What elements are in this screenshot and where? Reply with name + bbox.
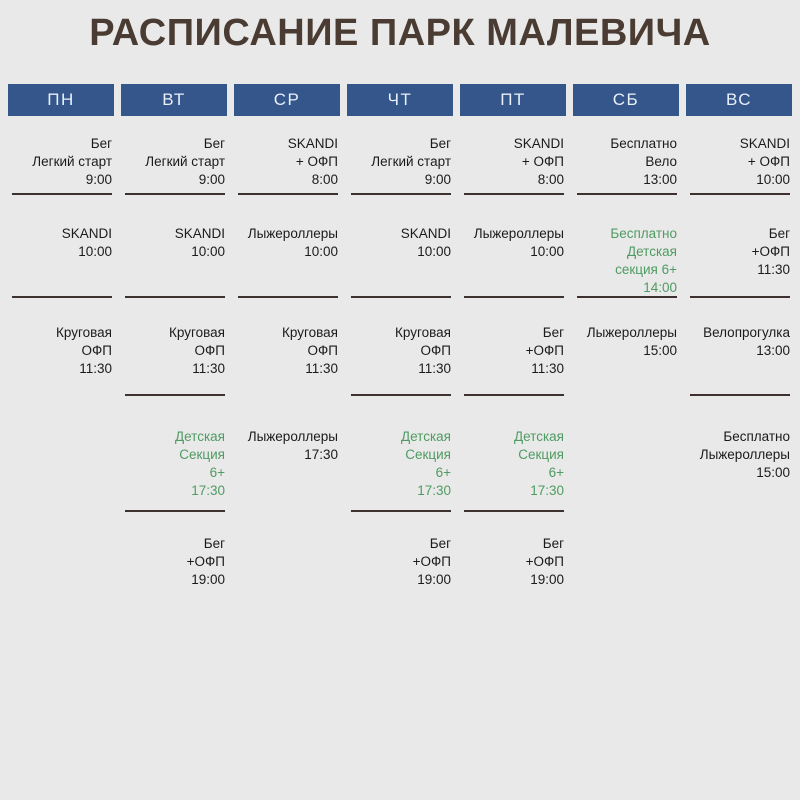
day-tab-mon[interactable]: ПН [8, 84, 114, 116]
session-time: 9:00 [86, 171, 112, 189]
session-time: 10:00 [191, 243, 225, 261]
day-tab-sun[interactable]: ВС [686, 84, 792, 116]
session-name: Бег [430, 135, 451, 153]
schedule-cell[interactable]: БегЛегкий старт9:00 [121, 126, 227, 203]
session-name: + ОФП [522, 153, 564, 171]
session-name: Круговая [282, 324, 338, 342]
session-name: +ОФП [526, 342, 564, 360]
session-name: +ОФП [526, 553, 564, 571]
schedule-cell[interactable]: Велопрогулка13:00 [686, 306, 792, 404]
session-name: Бег [543, 535, 564, 553]
session-name: Круговая [56, 324, 112, 342]
schedule-column-sun: SKANDI+ ОФП10:00Бег+ОФП11:30Велопрогулка… [686, 126, 792, 595]
schedule-cell[interactable]: Бег+ОФП19:00 [121, 520, 227, 595]
session-name: +ОФП [413, 553, 451, 571]
day-tab-label: ПТ [500, 90, 526, 110]
session-name: SKANDI [288, 135, 338, 153]
session-name: 6+ [210, 464, 225, 482]
schedule-cell[interactable]: Лыжероллеры17:30 [234, 404, 340, 520]
day-tab-label: ЧТ [388, 90, 413, 110]
schedule-cell[interactable]: Бег+ОФП19:00 [460, 520, 566, 595]
session-name: Круговая [395, 324, 451, 342]
session-time: 11:30 [305, 360, 338, 378]
session-time: 11:30 [418, 360, 451, 378]
session-name: Бесплатно [610, 225, 677, 243]
session-name: + ОФП [296, 153, 338, 171]
session-name: Велопрогулка [703, 324, 790, 342]
day-tab-thu[interactable]: ЧТ [347, 84, 453, 116]
schedule-cell[interactable]: БесплатноДетскаясекция 6+14:00 [573, 203, 679, 306]
session-time: 15:00 [643, 342, 677, 360]
session-name: Круговая [169, 324, 225, 342]
day-tab-label: СБ [613, 90, 639, 110]
day-tab-wed[interactable]: СР [234, 84, 340, 116]
schedule-cell[interactable]: SKANDI10:00 [347, 203, 453, 306]
session-name: SKANDI [514, 135, 564, 153]
schedule-cell[interactable]: БесплатноВело13:00 [573, 126, 679, 203]
session-name: SKANDI [401, 225, 451, 243]
session-time: 8:00 [312, 171, 338, 189]
day-tab-tue[interactable]: ВТ [121, 84, 227, 116]
schedule-cell[interactable]: КруговаяОФП11:30 [121, 306, 227, 404]
session-name: SKANDI [62, 225, 112, 243]
schedule-cell[interactable]: ДетскаяСекция6+17:30 [347, 404, 453, 520]
day-tab-label: СР [274, 90, 301, 110]
schedule-cell[interactable]: Лыжероллеры15:00 [573, 306, 679, 404]
session-time: 15:00 [756, 464, 790, 482]
schedule-cell[interactable]: Бег+ОФП11:30 [686, 203, 792, 306]
session-time: 17:30 [530, 482, 564, 500]
session-name: Легкий старт [371, 153, 451, 171]
session-time: 9:00 [425, 171, 451, 189]
session-name: Бег [543, 324, 564, 342]
session-name: ОФП [308, 342, 338, 360]
schedule-cell[interactable]: Лыжероллеры10:00 [234, 203, 340, 306]
schedule-column-sat: БесплатноВело13:00БесплатноДетскаясекция… [573, 126, 679, 595]
session-name: 6+ [436, 464, 451, 482]
schedule-column-mon: БегЛегкий старт9:00SKANDI10:00КруговаяОФ… [8, 126, 114, 595]
session-name: Лыжероллеры [248, 428, 338, 446]
session-time: 10:00 [530, 243, 564, 261]
schedule-cell[interactable]: SKANDI+ ОФП8:00 [234, 126, 340, 203]
session-name: +ОФП [187, 553, 225, 571]
day-tab-fri[interactable]: ПТ [460, 84, 566, 116]
schedule-cell[interactable]: БесплатноЛыжероллеры15:00 [686, 404, 792, 520]
schedule-grid: БегЛегкий старт9:00SKANDI10:00КруговаяОФ… [8, 126, 792, 595]
session-time: 8:00 [538, 171, 564, 189]
schedule-cell[interactable]: БегЛегкий старт9:00 [8, 126, 114, 203]
session-time: 17:30 [417, 482, 451, 500]
day-tab-label: ВС [726, 90, 752, 110]
session-name: секция 6+ [615, 261, 677, 279]
session-name: Секция [405, 446, 451, 464]
session-time: 10:00 [78, 243, 112, 261]
day-tab-sat[interactable]: СБ [573, 84, 679, 116]
session-name: Бесплатно [723, 428, 790, 446]
session-name: SKANDI [175, 225, 225, 243]
page-title: РАСПИСАНИЕ ПАРК МАЛЕВИЧА [0, 12, 800, 55]
schedule-cell[interactable]: Лыжероллеры10:00 [460, 203, 566, 306]
session-name: 6+ [549, 464, 564, 482]
session-name: Секция [518, 446, 564, 464]
schedule-cell[interactable]: SKANDI+ ОФП8:00 [460, 126, 566, 203]
session-time: 13:00 [756, 342, 790, 360]
session-name: SKANDI [740, 135, 790, 153]
day-tab-label: ВТ [162, 90, 186, 110]
session-name: Легкий старт [145, 153, 225, 171]
session-name: Секция [179, 446, 225, 464]
schedule-page: РАСПИСАНИЕ ПАРК МАЛЕВИЧА ПНВТСРЧТПТСБВС … [0, 0, 800, 800]
schedule-cell[interactable]: ДетскаяСекция6+17:30 [121, 404, 227, 520]
day-tab-label: ПН [47, 90, 75, 110]
schedule-column-wed: SKANDI+ ОФП8:00Лыжероллеры10:00КруговаяО… [234, 126, 340, 595]
session-time: 19:00 [530, 571, 564, 589]
session-name: Легкий старт [32, 153, 112, 171]
schedule-cell[interactable]: SKANDI10:00 [121, 203, 227, 306]
session-name: ОФП [421, 342, 451, 360]
session-time: 14:00 [643, 279, 677, 297]
session-name: ОФП [195, 342, 225, 360]
session-name: Детская [627, 243, 677, 261]
schedule-column-fri: SKANDI+ ОФП8:00Лыжероллеры10:00Бег+ОФП11… [460, 126, 566, 595]
session-name: ОФП [82, 342, 112, 360]
session-name: Детская [401, 428, 451, 446]
session-time: 17:30 [304, 446, 338, 464]
session-name: Бег [430, 535, 451, 553]
session-name: Детская [514, 428, 564, 446]
schedule-cell[interactable]: SKANDI+ ОФП10:00 [686, 126, 792, 203]
session-time: 19:00 [191, 571, 225, 589]
session-name: Вело [645, 153, 677, 171]
session-name: +ОФП [752, 243, 790, 261]
session-time: 11:30 [192, 360, 225, 378]
schedule-cell[interactable]: БегЛегкий старт9:00 [347, 126, 453, 203]
session-name: + ОФП [748, 153, 790, 171]
session-time: 9:00 [199, 171, 225, 189]
schedule-column-tue: БегЛегкий старт9:00SKANDI10:00КруговаяОФ… [121, 126, 227, 595]
session-name: Бег [769, 225, 790, 243]
session-name: Бег [204, 535, 225, 553]
session-name: Лыжероллеры [700, 446, 790, 464]
schedule-cell[interactable]: SKANDI10:00 [8, 203, 114, 306]
session-name: Лыжероллеры [587, 324, 677, 342]
session-time: 10:00 [304, 243, 338, 261]
session-time: 13:00 [643, 171, 677, 189]
session-time: 10:00 [756, 171, 790, 189]
day-header-row: ПНВТСРЧТПТСБВС [8, 84, 792, 116]
schedule-cell[interactable]: Бег+ОФП11:30 [460, 306, 566, 404]
schedule-cell[interactable]: КруговаяОФП11:30 [8, 306, 114, 404]
session-time: 11:30 [757, 261, 790, 279]
schedule-cell[interactable]: ДетскаяСекция6+17:30 [460, 404, 566, 520]
session-name: Бег [91, 135, 112, 153]
session-name: Бег [204, 135, 225, 153]
session-time: 17:30 [191, 482, 225, 500]
schedule-cell[interactable]: КруговаяОФП11:30 [347, 306, 453, 404]
session-time: 11:30 [531, 360, 564, 378]
session-time: 19:00 [417, 571, 451, 589]
session-name: Лыжероллеры [474, 225, 564, 243]
session-name: Детская [175, 428, 225, 446]
schedule-column-thu: БегЛегкий старт9:00SKANDI10:00КруговаяОФ… [347, 126, 453, 595]
session-name: Бесплатно [610, 135, 677, 153]
session-time: 10:00 [417, 243, 451, 261]
schedule-cell[interactable]: Бег+ОФП19:00 [347, 520, 453, 595]
schedule-cell[interactable]: КруговаяОФП11:30 [234, 306, 340, 404]
session-time: 11:30 [79, 360, 112, 378]
session-name: Лыжероллеры [248, 225, 338, 243]
